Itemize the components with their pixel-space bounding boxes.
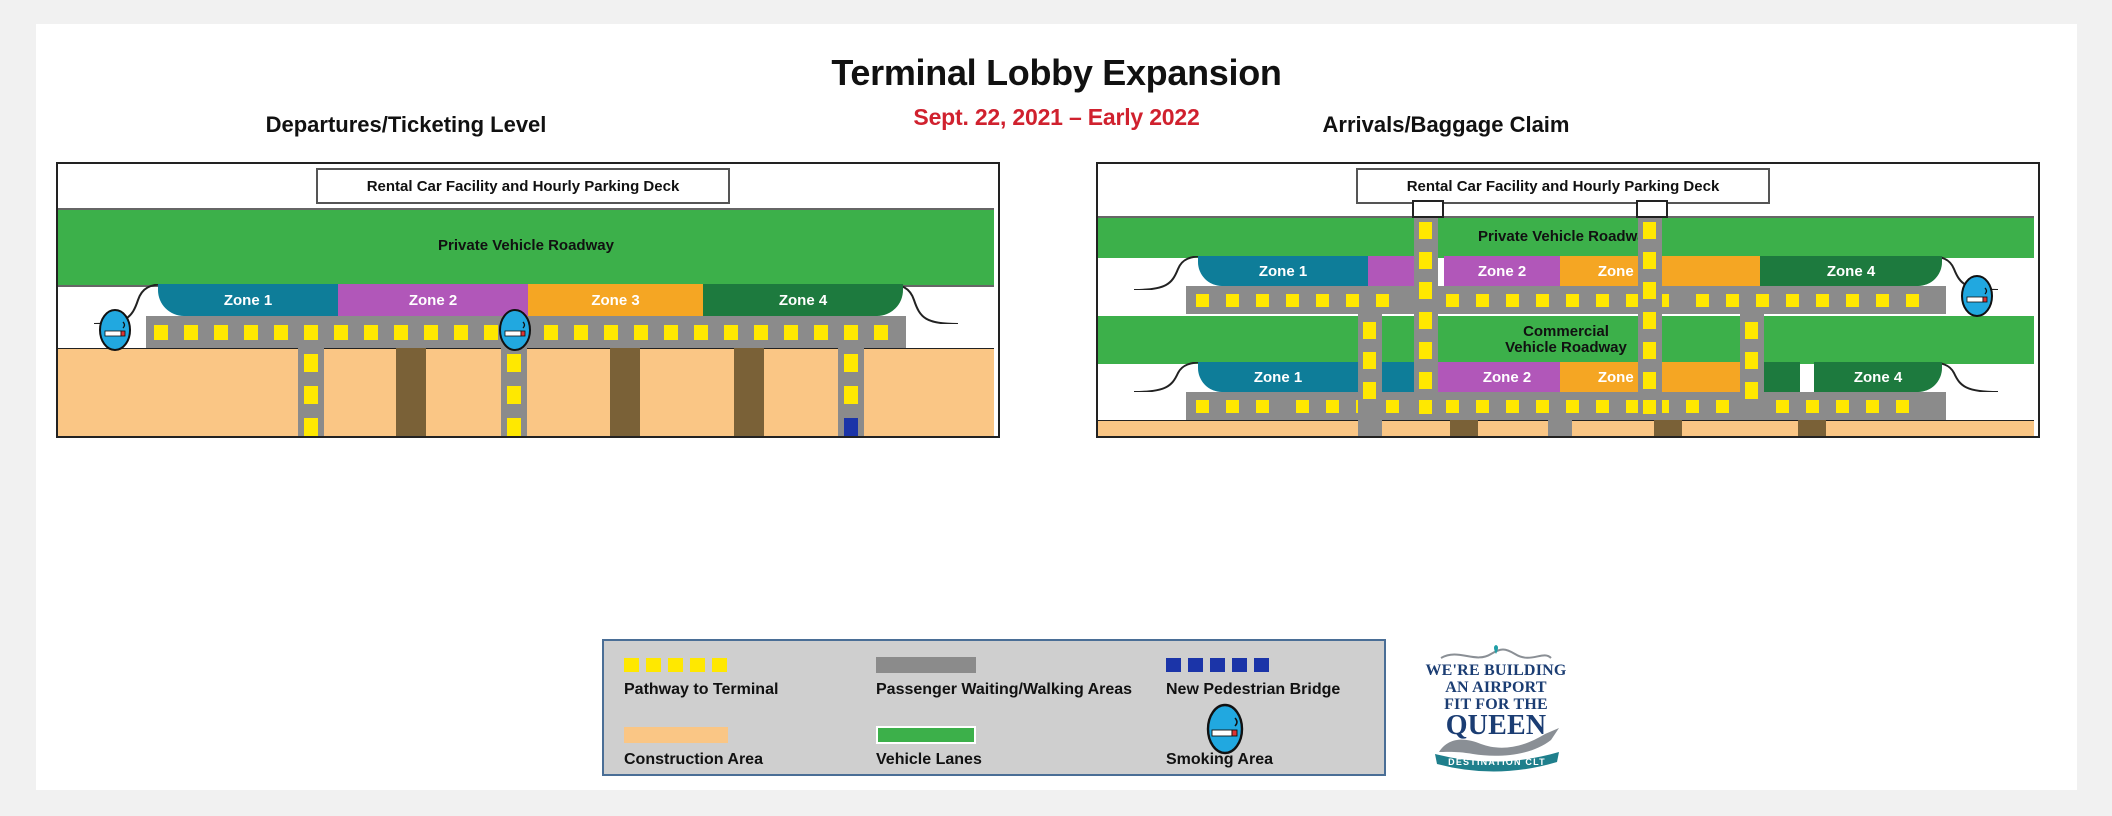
legend-label-vehicle: Vehicle Lanes (876, 751, 982, 769)
closed-door-block-d3-departures (610, 348, 640, 438)
logo-banner-text: DESTINATION CLT (1448, 757, 1546, 767)
legend-label-bridge: New Pedestrian Bridge (1166, 681, 1340, 699)
pathway-dashes-row2-arrivals (1186, 392, 1946, 420)
construction-swatch (624, 727, 728, 743)
commercial-vehicle-roadway-label-line2: Vehicle Roadway (1505, 339, 1627, 356)
pathway-dashes-bridge-right-arrivals (1638, 214, 1662, 420)
logo-line2: AN AIRPORT (1421, 679, 1571, 697)
commercial-vehicle-roadway-arrivals: Commercial Vehicle Roadway (1098, 314, 2034, 366)
zone-arrivals-row1-3: Zone 3 (1560, 256, 1684, 286)
bridge-entry-box-right-arrivals[interactable] (1636, 200, 1668, 218)
zone-arrivals-row1-filler-orange (1684, 256, 1760, 286)
pathway-dashes-centerdoor-arrivals (1548, 420, 1572, 438)
closed-door-block-d2-departures (396, 348, 426, 438)
pathway-swatch (624, 658, 734, 672)
legend-box: Pathway to Terminal Passenger Waiting/Wa… (602, 639, 1386, 776)
page-title: Terminal Lobby Expansion (36, 52, 2077, 94)
legend-label-smoking: Smoking Area (1166, 751, 1273, 769)
closed-door-block-d4-departures (734, 348, 764, 438)
pathway-dashes-door1-arrivals (1358, 420, 1382, 438)
pathway-dashes-door1-departures (298, 348, 324, 438)
page-root: Terminal Lobby Expansion Sept. 22, 2021 … (0, 0, 2112, 816)
smoking-area-icon-departures-left (98, 308, 132, 352)
smoking-swatch (1204, 703, 1246, 755)
rental-car-facility-label-departures: Rental Car Facility and Hourly Parking D… (316, 168, 730, 204)
zone-arrivals-row1-4: Zone 4 (1760, 256, 1942, 286)
legend-label-construction: Construction Area (624, 751, 763, 769)
closed-door-block-d2-arrivals (1450, 420, 1478, 438)
commercial-vehicle-roadway-label-line1: Commercial (1523, 323, 1609, 340)
logo-banner: DESTINATION CLT (1431, 746, 1563, 772)
zone-arrivals-row2-filler-orange (1684, 362, 1740, 392)
panel-title-departures: Departures/Ticketing Level (56, 112, 756, 138)
pathway-dashes-row1-arrivals (1186, 286, 1946, 314)
zone-departures-4: Zone 4 (703, 284, 903, 316)
closed-door-block-d3-arrivals (1654, 420, 1682, 438)
rental-car-facility-label-arrivals: Rental Car Facility and Hourly Parking D… (1356, 168, 1770, 204)
private-vehicle-roadway-departures: Private Vehicle Roadway (58, 208, 994, 287)
zone-arrivals-row2-2: Zone 2 (1454, 362, 1560, 392)
pathway-dashes-centerdoor-departures (501, 348, 527, 438)
legend-label-waiting: Passenger Waiting/Walking Areas (876, 681, 1132, 699)
logo-line1: WE'RE BUILDING (1421, 662, 1571, 680)
diagram-arrivals: Rental Car Facility and Hourly Parking D… (1096, 162, 2040, 438)
pathway-dashes-mid-right-arrivals (1740, 314, 1764, 420)
private-vehicle-roadway-label-arrivals: Private Vehicle Roadway (1098, 229, 2034, 245)
private-vehicle-roadway-label-departures: Private Vehicle Roadway (58, 238, 994, 254)
zone-departures-3: Zone 3 (528, 284, 703, 316)
legend-label-pathway: Pathway to Terminal (624, 681, 778, 699)
pedestrian-bridge-door5-departures (838, 348, 864, 438)
bridge-entry-box-left-arrivals[interactable] (1412, 200, 1444, 218)
smoking-area-icon-departures-mid (498, 308, 532, 352)
content-card: Terminal Lobby Expansion Sept. 22, 2021 … (36, 24, 2077, 790)
zone-departures-1: Zone 1 (158, 284, 338, 316)
zone-arrivals-row2-3: Zone 3 (1560, 362, 1684, 392)
diagram-departures: Rental Car Facility and Hourly Parking D… (56, 162, 1000, 438)
bridge-swatch (1166, 658, 1276, 672)
zone-arrivals-row1-1: Zone 1 (1198, 256, 1368, 286)
logo-flourish-icon (1439, 644, 1553, 664)
closed-door-block-d4-arrivals (1798, 420, 1826, 438)
private-vehicle-roadway-arrivals: Private Vehicle Roadway (1098, 216, 2034, 258)
waiting-swatch (876, 657, 976, 673)
curb-curve-left-row2-arrivals (1134, 362, 1206, 392)
vehicle-swatch (876, 726, 976, 744)
zone-arrivals-row2-1: Zone 1 (1198, 362, 1358, 392)
zone-arrivals-row1-2: Zone 2 (1444, 256, 1560, 286)
curb-curve-left-row1-arrivals (1134, 256, 1206, 290)
panel-title-arrivals: Arrivals/Baggage Claim (1096, 112, 1796, 138)
zone-arrivals-row2-4: Zone 4 (1814, 362, 1942, 392)
pathway-dashes-bridge-left-arrivals (1414, 214, 1438, 420)
pathway-dashes-mid-left-arrivals (1358, 314, 1382, 420)
destination-clt-logo: WE'RE BUILDING AN AIRPORT FIT FOR THE QU… (1421, 642, 1571, 772)
smoking-area-icon-arrivals (1960, 274, 1994, 318)
